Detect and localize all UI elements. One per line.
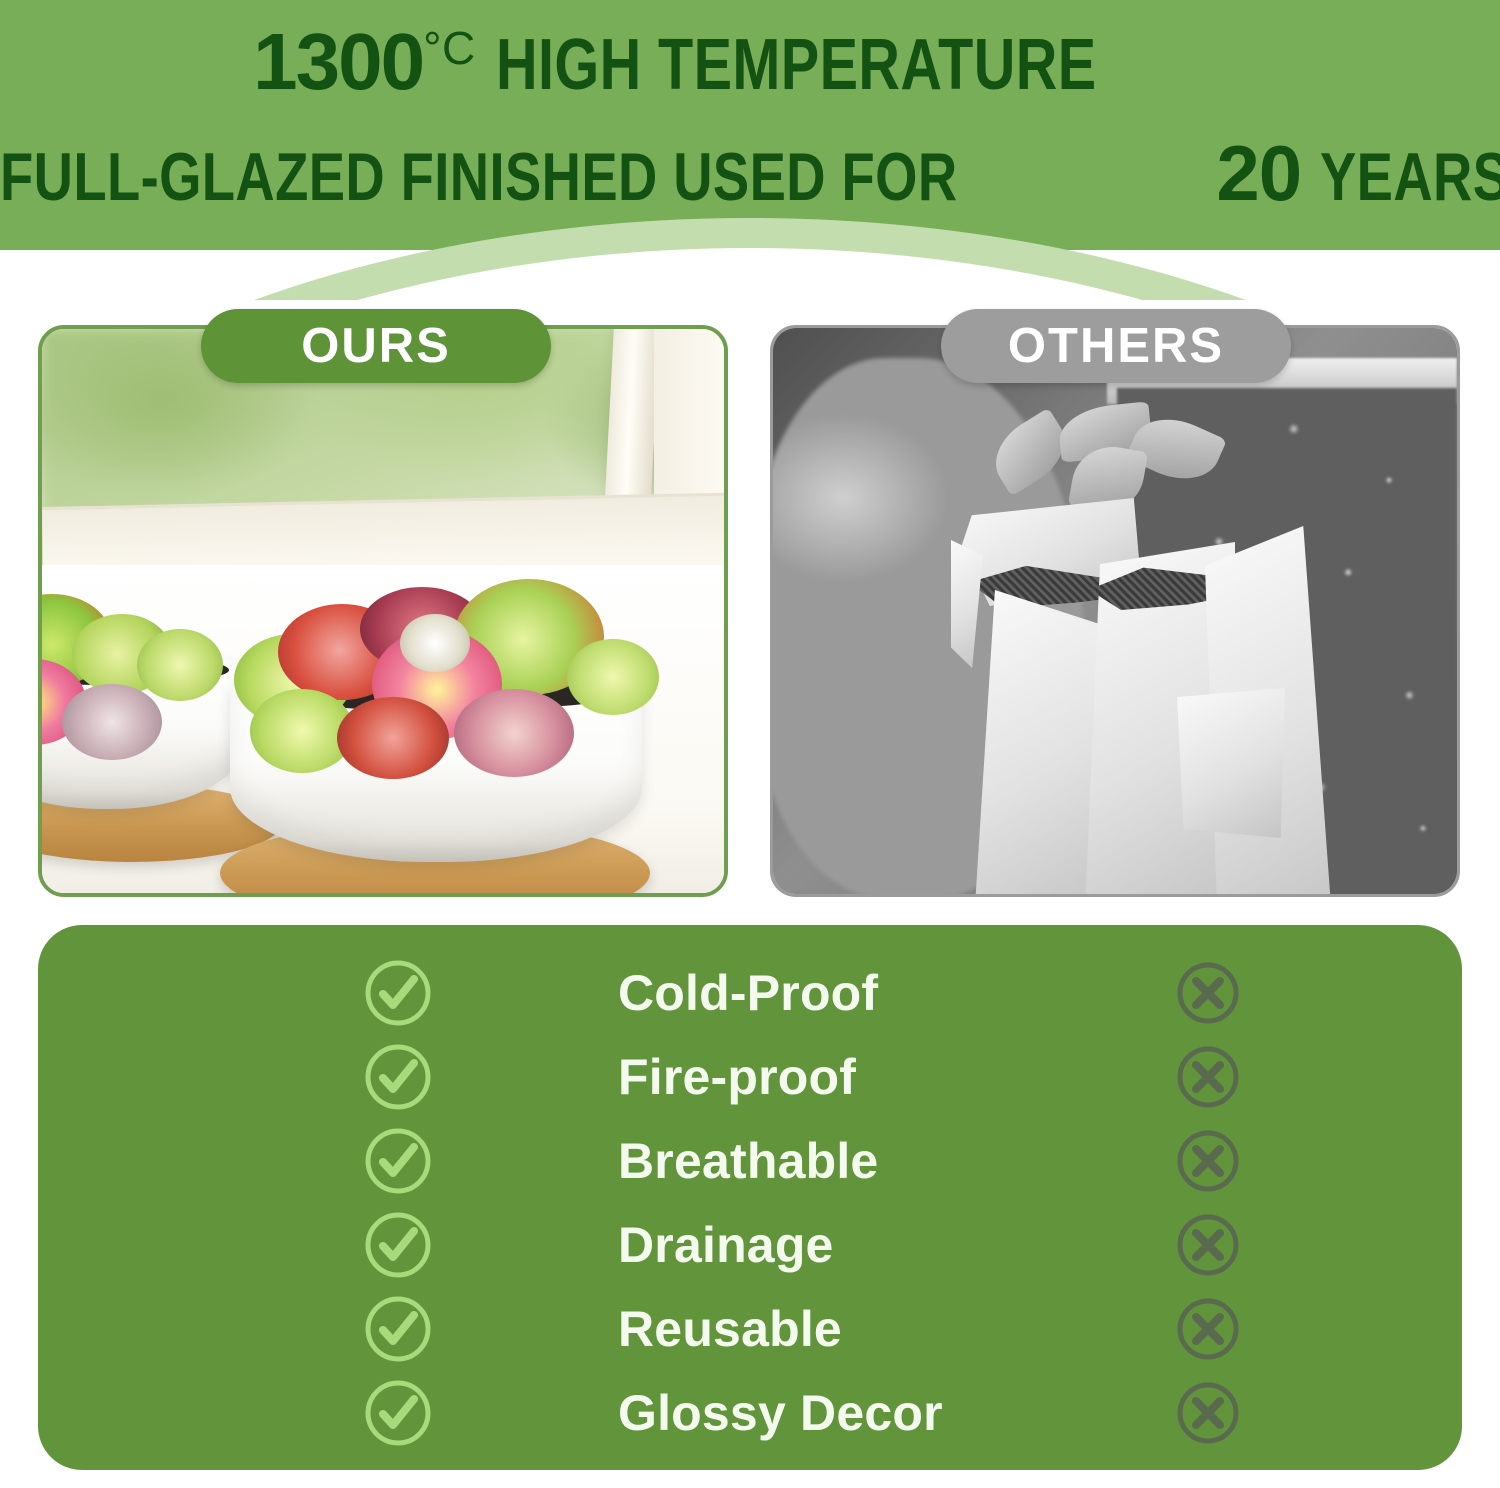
feature-label: Breathable: [618, 1132, 878, 1190]
ours-label-pill: OURS: [201, 309, 551, 383]
cross-icon: [1163, 951, 1253, 1035]
others-label-pill: OTHERS: [941, 309, 1291, 383]
feature-label: Drainage: [618, 1216, 834, 1274]
headline-line-2-after: YEARS: [1320, 143, 1500, 211]
cross-icon: [1163, 1035, 1253, 1119]
feature-row: Drainage: [38, 1203, 1462, 1287]
years-value: 20: [1216, 129, 1301, 217]
ours-photo-card: [38, 325, 728, 897]
feature-row: Glossy Decor: [38, 1371, 1462, 1455]
headline-line-2: FULL-GLAZED FINISHED USED FOR 20 YEARS: [0, 134, 1500, 212]
headline-line-1-text: HIGH TEMPERATURE: [496, 29, 1097, 101]
succulent-left-4: [62, 684, 162, 760]
pot-fragment-right-lower: [1177, 688, 1285, 838]
top-banner: 1300°C HIGH TEMPERATURE FULL-GLAZED FINI…: [0, 0, 1500, 300]
feature-row: Breathable: [38, 1119, 1462, 1203]
succulent-right-7: [337, 697, 449, 779]
others-label-text: OTHERS: [1008, 318, 1224, 374]
others-photo-card: [770, 325, 1460, 897]
headline-line-2-before: FULL-GLAZED FINISHED USED FOR: [0, 143, 958, 211]
temperature-value: 1300: [253, 17, 423, 106]
check-icon: [353, 1203, 443, 1287]
feature-label: Glossy Decor: [618, 1384, 943, 1442]
feature-label: Reusable: [618, 1300, 842, 1358]
succulent-right-9: [567, 639, 659, 715]
banner-arc-white: [0, 248, 1500, 300]
check-icon: [353, 1287, 443, 1371]
infographic-root: 1300°C HIGH TEMPERATURE FULL-GLAZED FINI…: [0, 0, 1500, 1488]
headline-line-1: 1300°C HIGH TEMPERATURE: [0, 22, 1500, 102]
ours-label-text: OURS: [301, 318, 451, 374]
feature-row: Cold-Proof: [38, 951, 1462, 1035]
check-icon: [353, 1035, 443, 1119]
cross-icon: [1163, 1287, 1253, 1371]
others-product-photo: [773, 328, 1457, 894]
cross-icon: [1163, 1119, 1253, 1203]
check-icon: [353, 1119, 443, 1203]
cross-icon: [1163, 1203, 1253, 1287]
succulent-left-5: [137, 629, 223, 701]
banner-headline: 1300°C HIGH TEMPERATURE FULL-GLAZED FINI…: [0, 0, 1500, 212]
cross-icon: [1163, 1371, 1253, 1455]
feature-row: Fire-proof: [38, 1035, 1462, 1119]
degree-celsius-symbol: °C: [423, 22, 476, 74]
ours-product-photo: [42, 329, 724, 893]
feature-comparison-panel: Cold-Proof Fire-proof: [38, 925, 1462, 1470]
succulent-right-8: [454, 689, 574, 777]
check-icon: [353, 951, 443, 1035]
feature-label: Fire-proof: [618, 1048, 856, 1106]
check-icon: [353, 1371, 443, 1455]
feature-row: Reusable: [38, 1287, 1462, 1371]
feature-label: Cold-Proof: [618, 964, 878, 1022]
succulent-right-10: [400, 614, 470, 672]
